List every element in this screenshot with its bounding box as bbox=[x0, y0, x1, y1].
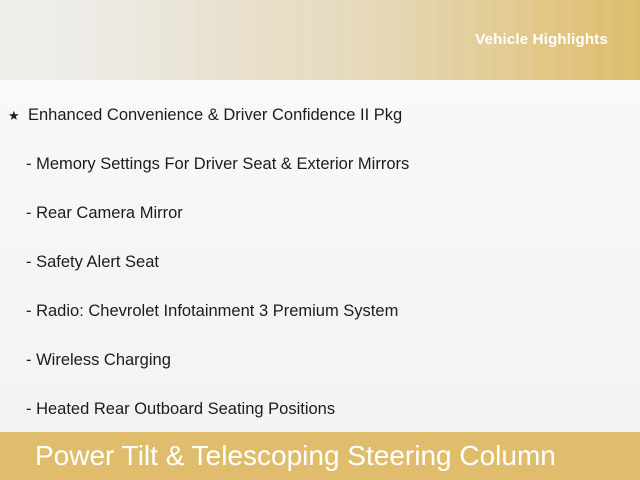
list-item-label: - Heated Rear Outboard Seating Positions bbox=[26, 400, 335, 418]
highlights-content: ★Enhanced Convenience & Driver Confidenc… bbox=[0, 80, 640, 432]
list-item: - Heated Rear Outboard Seating Positions bbox=[0, 385, 640, 434]
feature-list: ★Enhanced Convenience & Driver Confidenc… bbox=[0, 91, 640, 434]
list-item-label: - Memory Settings For Driver Seat & Exte… bbox=[26, 155, 409, 173]
list-item-label: - Safety Alert Seat bbox=[26, 253, 159, 271]
list-item-label: - Wireless Charging bbox=[26, 351, 171, 369]
header-banner: Vehicle Highlights bbox=[0, 0, 640, 80]
list-item: - Rear Camera Mirror bbox=[0, 189, 640, 238]
page-title: Vehicle Highlights bbox=[475, 31, 608, 48]
list-item-label: - Rear Camera Mirror bbox=[26, 204, 183, 222]
list-item: - Memory Settings For Driver Seat & Exte… bbox=[0, 140, 640, 189]
star-icon: ★ bbox=[8, 91, 20, 140]
footer-banner: Power Tilt & Telescoping Steering Column bbox=[0, 432, 640, 480]
list-item: - Radio: Chevrolet Infotainment 3 Premiu… bbox=[0, 287, 640, 336]
list-item: - Safety Alert Seat bbox=[0, 238, 640, 287]
list-item-label: - Radio: Chevrolet Infotainment 3 Premiu… bbox=[26, 302, 398, 320]
footer-feature-title: Power Tilt & Telescoping Steering Column bbox=[35, 432, 556, 480]
list-item: - Wireless Charging bbox=[0, 336, 640, 385]
list-item: ★Enhanced Convenience & Driver Confidenc… bbox=[0, 91, 640, 140]
vehicle-highlights-slide: Vehicle Highlights ★Enhanced Convenience… bbox=[0, 0, 640, 480]
list-item-label: Enhanced Convenience & Driver Confidence… bbox=[28, 106, 402, 124]
